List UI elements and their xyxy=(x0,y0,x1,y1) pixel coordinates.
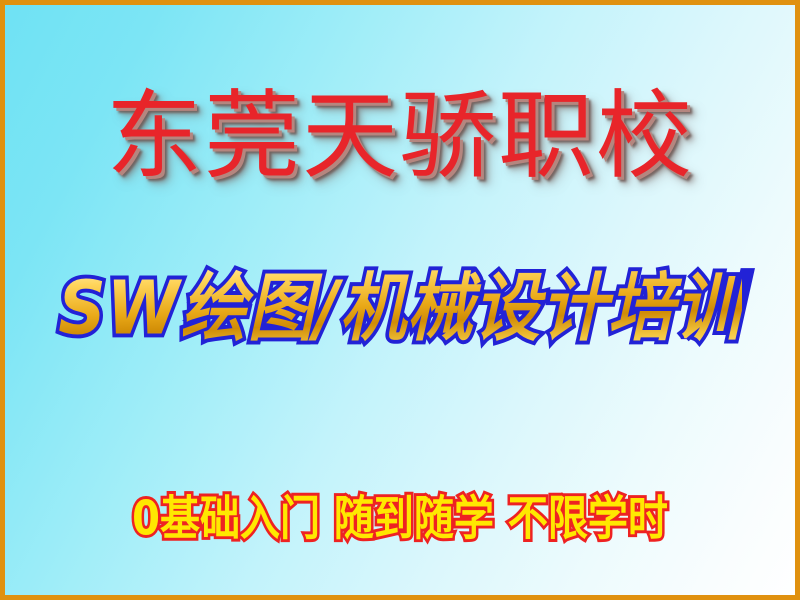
subtitle-block: SW绘图/机械设计培训 SW绘图/机械设计培训 xyxy=(5,263,795,363)
slide-canvas: 东莞天骄职校 SW绘图/机械设计培训 SW绘图/机械设计培训 0基础入门 随到随… xyxy=(0,0,800,600)
tagline-wordart: 0基础入门 随到随学 不限学时 0基础入门 随到随学 不限学时 xyxy=(132,486,668,552)
tagline-block: 0基础入门 随到随学 不限学时 0基础入门 随到随学 不限学时 xyxy=(5,491,795,553)
page-title: 东莞天骄职校 xyxy=(5,77,795,195)
tagline-fill-layer: 0基础入门 随到随学 不限学时 xyxy=(132,492,668,546)
subtitle-fill-layer: SW绘图/机械设计培训 xyxy=(58,265,741,351)
subtitle-wordart: SW绘图/机械设计培训 SW绘图/机械设计培训 xyxy=(58,257,741,360)
